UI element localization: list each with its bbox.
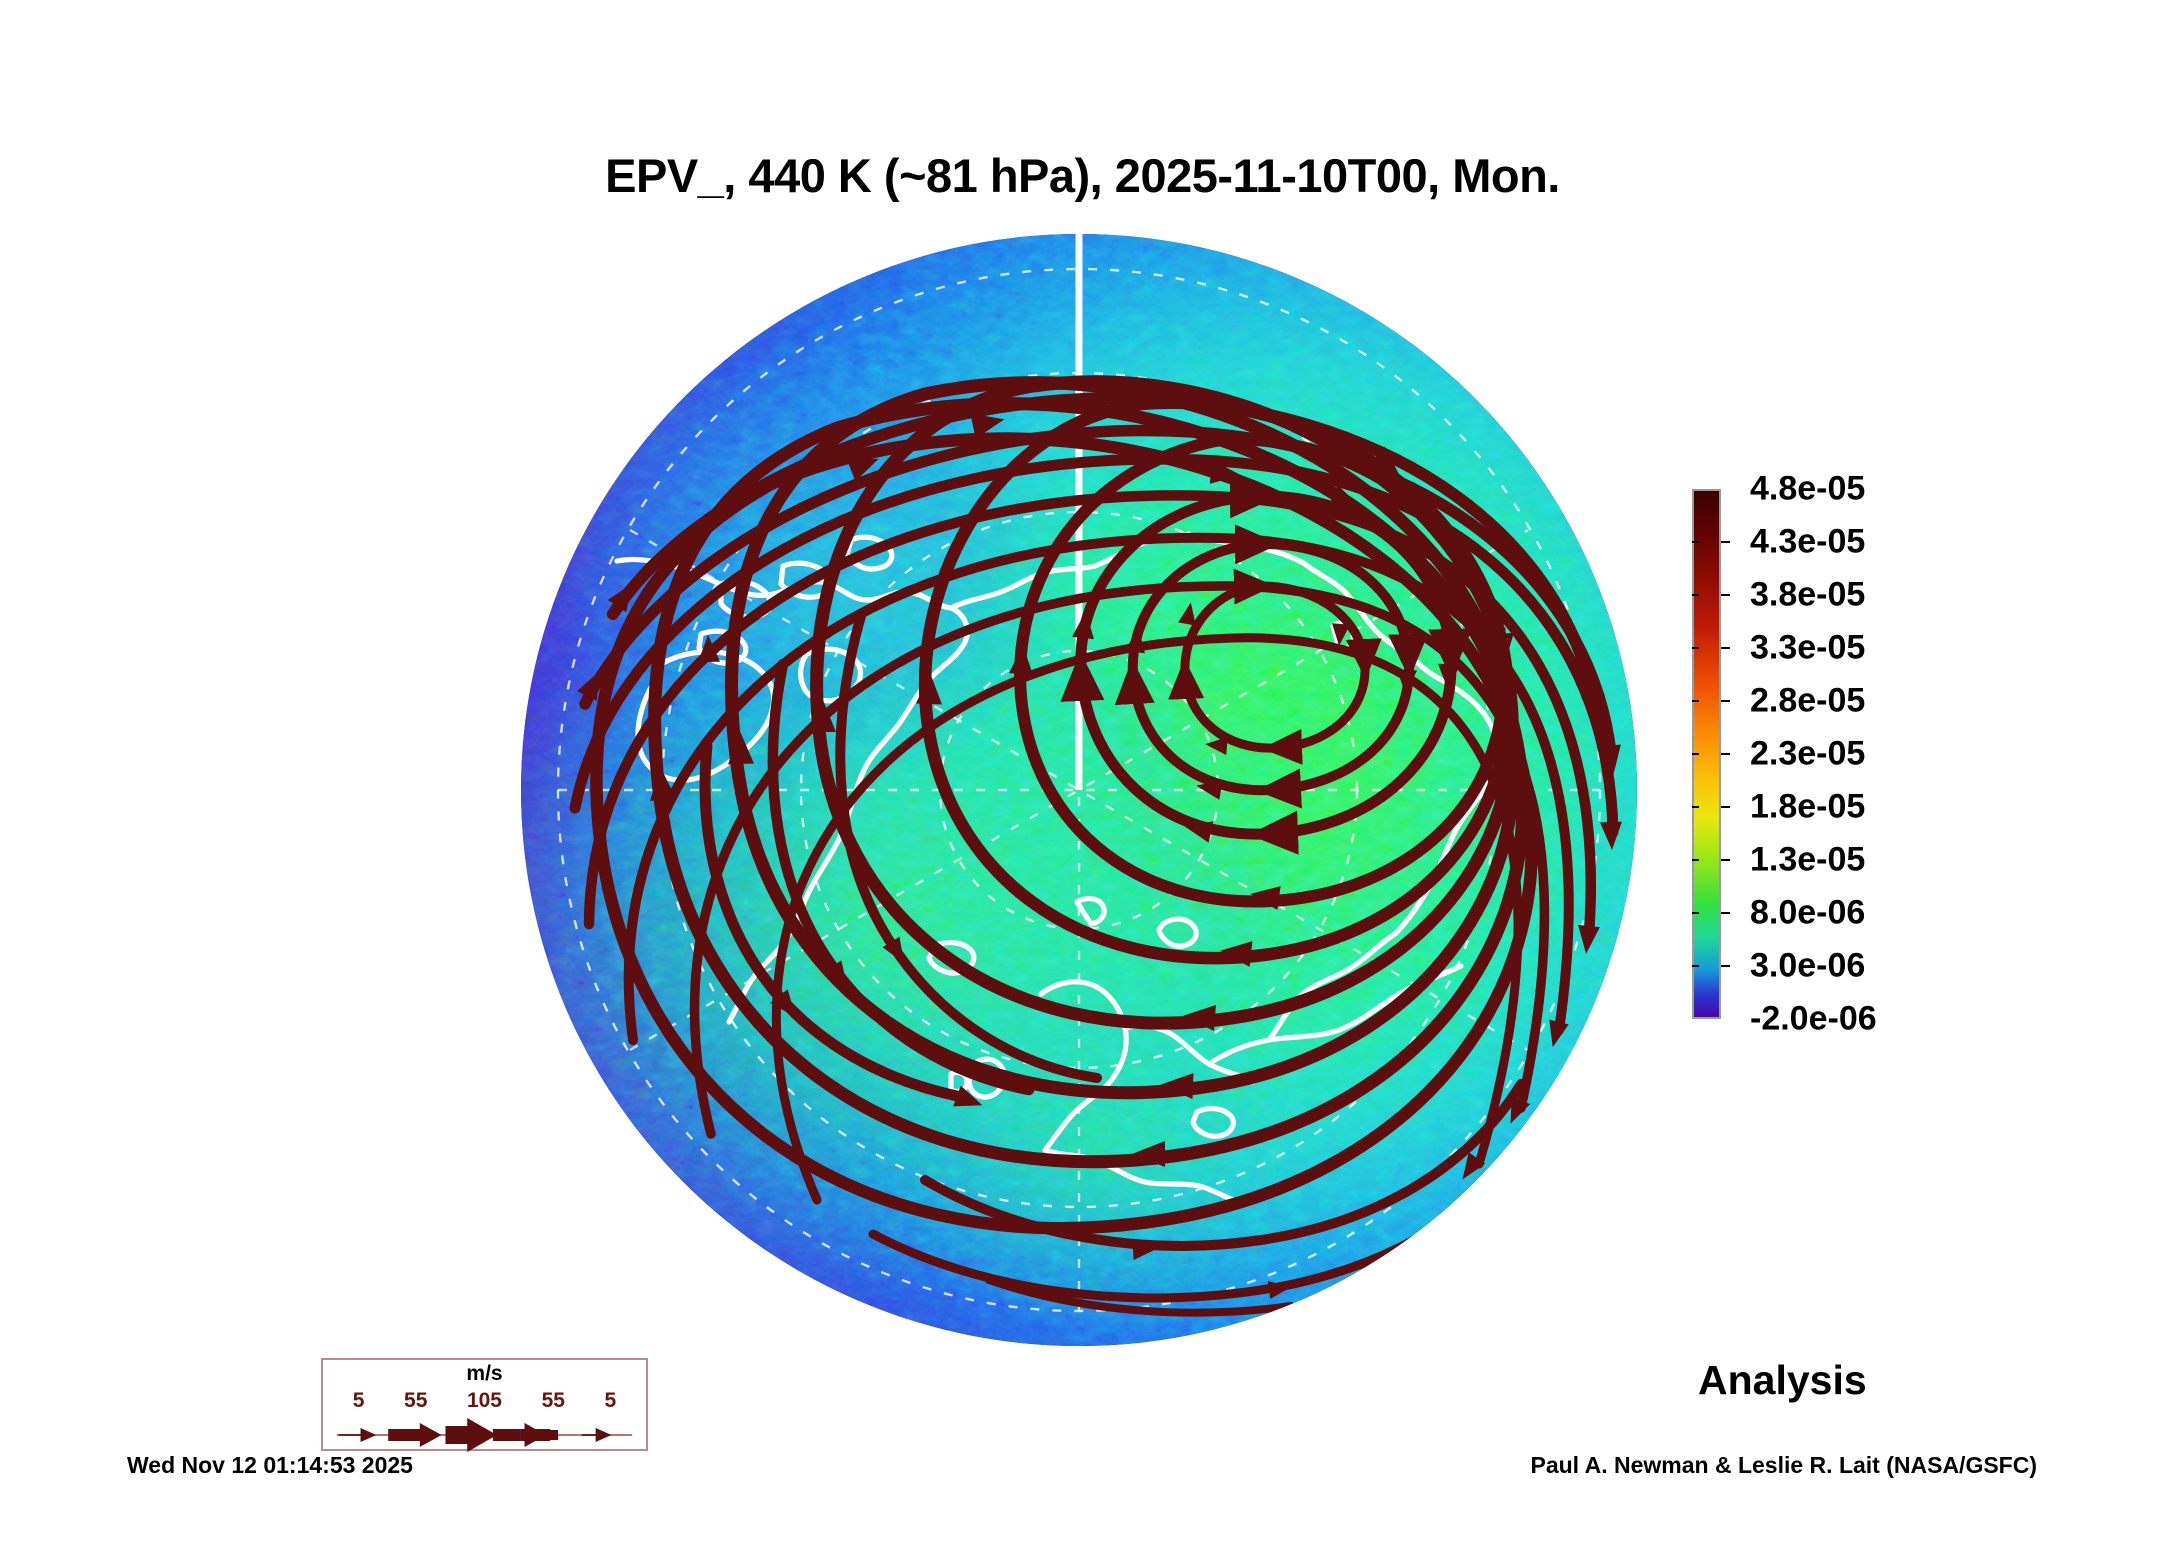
colorbar-tick-label: 3.8e-05 <box>1750 576 1865 615</box>
colorbar-tick <box>1721 912 1730 914</box>
generation-timestamp: Wed Nov 12 01:14:53 2025 <box>127 1452 413 1479</box>
colorbar-tick-inner <box>1692 965 1699 967</box>
wind-streamlines <box>521 234 1637 1346</box>
wind-legend-value: 55 <box>542 1389 565 1413</box>
colorbar-tick-inner <box>1692 912 1699 914</box>
wind-legend-values: 555105555 <box>323 1389 646 1413</box>
colorbar-tick <box>1721 541 1730 543</box>
colorbar-tick <box>1721 965 1730 967</box>
wind-speed-legend: m/s 555105555 <box>321 1358 648 1451</box>
colorbar-tick-label: 2.3e-05 <box>1750 735 1865 774</box>
author-credit: Paul A. Newman & Leslie R. Lait (NASA/GS… <box>1530 1452 2037 1479</box>
colorbar-tick <box>1721 594 1730 596</box>
colorbar-tick-label: -2.0e-06 <box>1750 1000 1877 1039</box>
colorbar-tick <box>1721 700 1730 702</box>
colorbar-tick-inner <box>1692 647 1699 649</box>
page-title: EPV_, 440 K (~81 hPa), 2025-11-10T00, Mo… <box>0 148 2165 203</box>
colorbar-tick <box>1721 806 1730 808</box>
colorbar-tick-inner <box>1692 753 1699 755</box>
colorbar-tick-label: 4.8e-05 <box>1750 470 1865 509</box>
colorbar-tick-label: 1.8e-05 <box>1750 788 1865 827</box>
colorbar-tick <box>1721 647 1730 649</box>
wind-legend-value: 55 <box>404 1389 427 1413</box>
wind-legend-arrow-icons <box>323 1416 646 1453</box>
colorbar-tick-label: 8.0e-06 <box>1750 894 1865 933</box>
colorbar-tick-inner <box>1692 700 1699 702</box>
colorbar-tick-label: 2.8e-05 <box>1750 682 1865 721</box>
colorbar-tick-inner <box>1692 541 1699 543</box>
colorbar-tick-inner <box>1692 594 1699 596</box>
colorbar-tick <box>1721 753 1730 755</box>
wind-legend-value: 5 <box>353 1389 365 1413</box>
wind-legend-value: 5 <box>604 1389 616 1413</box>
globe-disc <box>521 234 1637 1346</box>
analysis-label: Analysis <box>1698 1357 1867 1404</box>
colorbar-tick-inner <box>1692 859 1699 861</box>
colorbar-tick-inner <box>1692 806 1699 808</box>
colorbar-tick-label: 3.3e-05 <box>1750 629 1865 668</box>
colorbar-tick-label: 4.3e-05 <box>1750 523 1865 562</box>
wind-legend-unit-label: m/s <box>323 1362 646 1386</box>
polar-stereographic-map <box>521 234 1637 1346</box>
wind-legend-value: 105 <box>467 1389 502 1413</box>
colorbar-tick-label: 3.0e-06 <box>1750 947 1865 986</box>
colorbar-tick-label: 1.3e-05 <box>1750 841 1865 880</box>
colorbar-tick <box>1721 859 1730 861</box>
